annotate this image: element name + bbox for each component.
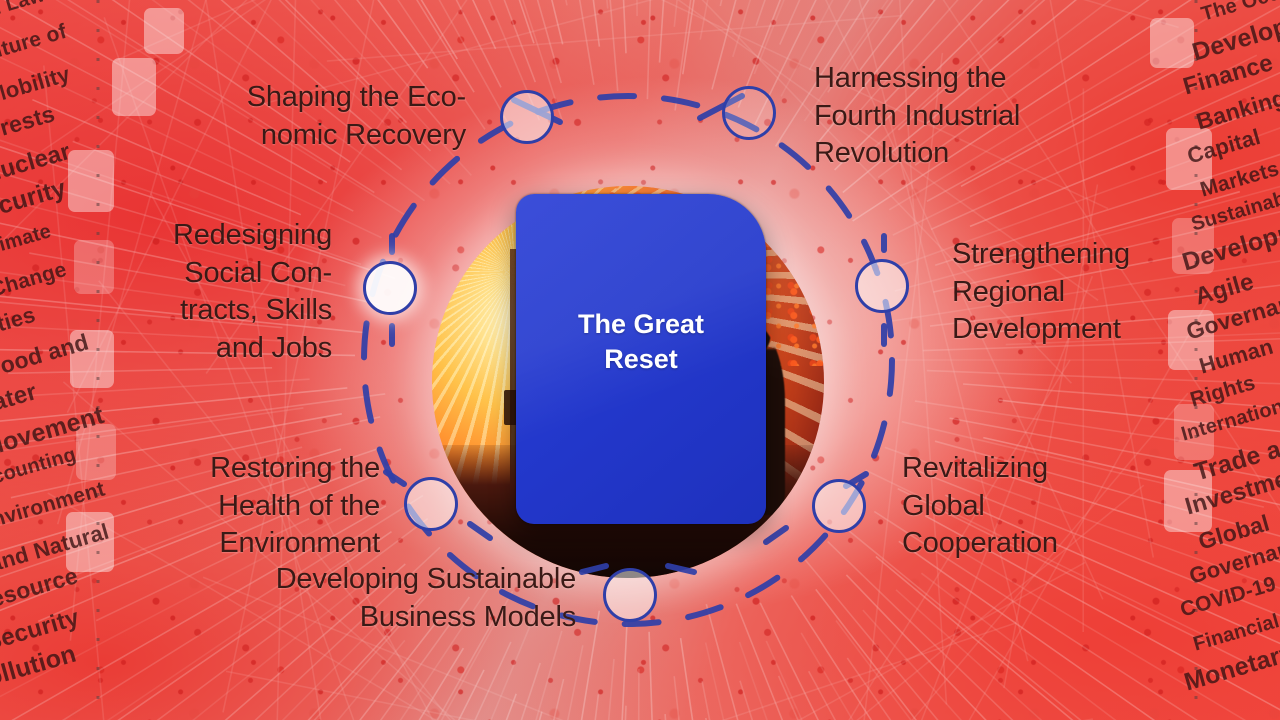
node-redesigning-social-contracts[interactable] — [363, 261, 417, 315]
node-restoring-health-environment[interactable] — [404, 477, 458, 531]
label-redesigning-social-contracts[interactable]: Redesigning Social Con- tracts, Skills a… — [60, 217, 332, 368]
label-developing-sustainable-business-models[interactable]: Developing Sustainable Business Models — [148, 561, 576, 636]
label-strengthening-regional-development[interactable]: Strengthening Regional Development — [952, 236, 1212, 349]
node-strengthening-regional-development[interactable] — [855, 259, 909, 313]
book-title-line-2: Reset — [516, 342, 766, 377]
label-restoring-health-environment[interactable]: Restoring the Health of the Environment — [108, 450, 380, 563]
label-revitalizing-global-cooperation[interactable]: Revitalizing Global Cooperation — [902, 450, 1152, 563]
label-shaping-economic-recovery[interactable]: Shaping the Eco- nomic Recovery — [160, 79, 466, 154]
book-title-line-1: The Great — [516, 307, 766, 342]
label-harnessing-fourth-industrial-revolution[interactable]: Harnessing the Fourth Industrial Revolut… — [814, 60, 1134, 173]
great-reset-infographic: and LawFuture ofMobilityForestsNuclearSe… — [0, 0, 1280, 720]
node-revitalizing-global-cooperation[interactable] — [812, 479, 866, 533]
book-title: The Great Reset — [516, 307, 766, 377]
the-great-reset-book-cover[interactable]: The Great Reset — [516, 194, 766, 524]
node-shaping-economic-recovery[interactable] — [500, 90, 554, 144]
node-harnessing-fourth-industrial-revolution[interactable] — [722, 86, 776, 140]
node-developing-sustainable-business-models[interactable] — [603, 568, 657, 622]
